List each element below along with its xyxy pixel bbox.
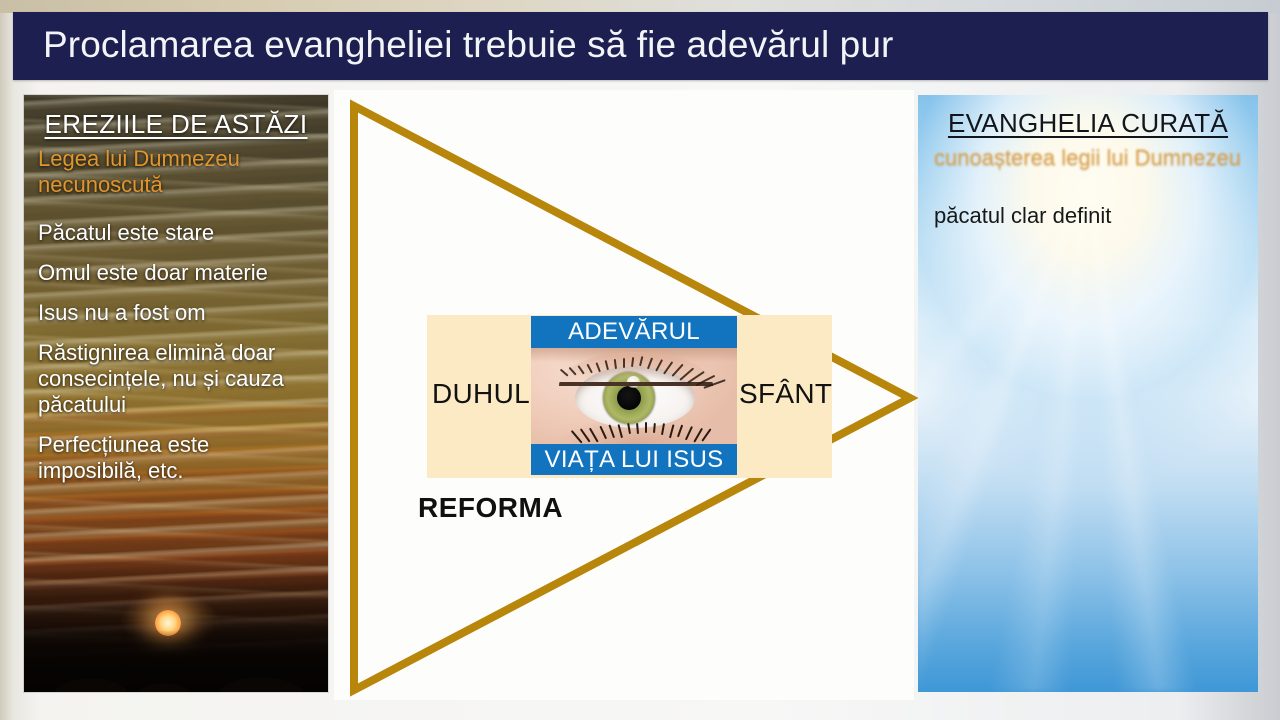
- reforma-caption: REFORMA: [418, 492, 563, 524]
- duhul-label: DUHUL: [431, 378, 531, 410]
- right-panel-heading: EVANGHELIA CURATĂ: [932, 108, 1244, 139]
- eye-pupil: [617, 386, 641, 410]
- right-panel-content: EVANGHELIA CURATĂ cunoașterea legii lui …: [918, 95, 1258, 692]
- eyelash-icon: [669, 424, 674, 438]
- eyelash-icon: [599, 426, 606, 439]
- eyelash-icon: [608, 425, 614, 438]
- sfant-label: SFÂNT: [739, 378, 831, 410]
- eyelash-icon: [645, 422, 647, 433]
- eyelash-icon: [661, 423, 665, 435]
- right-panel-evanghelia: EVANGHELIA CURATĂ cunoașterea legii lui …: [918, 95, 1258, 692]
- eyelash-icon: [617, 424, 622, 438]
- eyelash-icon: [589, 427, 599, 442]
- right-panel-accent-item: cunoașterea legii lui Dumnezeu: [934, 145, 1244, 171]
- left-panel-ereziile: EREZIILE DE ASTĂZI Legea lui Dumnezeu ne…: [24, 95, 328, 692]
- list-item: păcatul clar definit: [934, 203, 1244, 229]
- slide-title-bar: Proclamarea evangheliei trebuie să fie a…: [13, 12, 1268, 80]
- eyelash-icon: [677, 425, 683, 437]
- page-title: Proclamarea evangheliei trebuie să fie a…: [43, 24, 893, 66]
- banner-viata-lui-isus: VIAȚA LUI ISUS: [531, 444, 737, 475]
- list-item: Păcatul este stare: [38, 220, 318, 246]
- eyelash-icon: [636, 423, 639, 434]
- eyelash-icon: [627, 423, 630, 434]
- left-panel-heading: EREZIILE DE ASTĂZI: [34, 109, 318, 140]
- eyelash-icon: [653, 423, 655, 433]
- eyelash-icon: [623, 358, 625, 368]
- list-item: Isus nu a fost om: [38, 300, 318, 326]
- eyelash-icon: [685, 426, 693, 440]
- list-item: Omul este doar materie: [38, 260, 318, 286]
- left-panel-content: EREZIILE DE ASTĂZI Legea lui Dumnezeu ne…: [24, 95, 328, 692]
- eye-photo-inner: [531, 348, 737, 444]
- list-item: Perfecțiunea este imposibilă, etc.: [38, 432, 318, 484]
- eye-lower-lashes: [577, 420, 707, 444]
- banner-adevarul: ADEVĂRUL: [531, 316, 737, 348]
- slide-canvas: Proclamarea evangheliei trebuie să fie a…: [0, 0, 1280, 720]
- list-item: Răstignirea elimină doar consecințele, n…: [38, 340, 318, 418]
- left-panel-accent-item: Legea lui Dumnezeu necunoscută: [38, 146, 318, 198]
